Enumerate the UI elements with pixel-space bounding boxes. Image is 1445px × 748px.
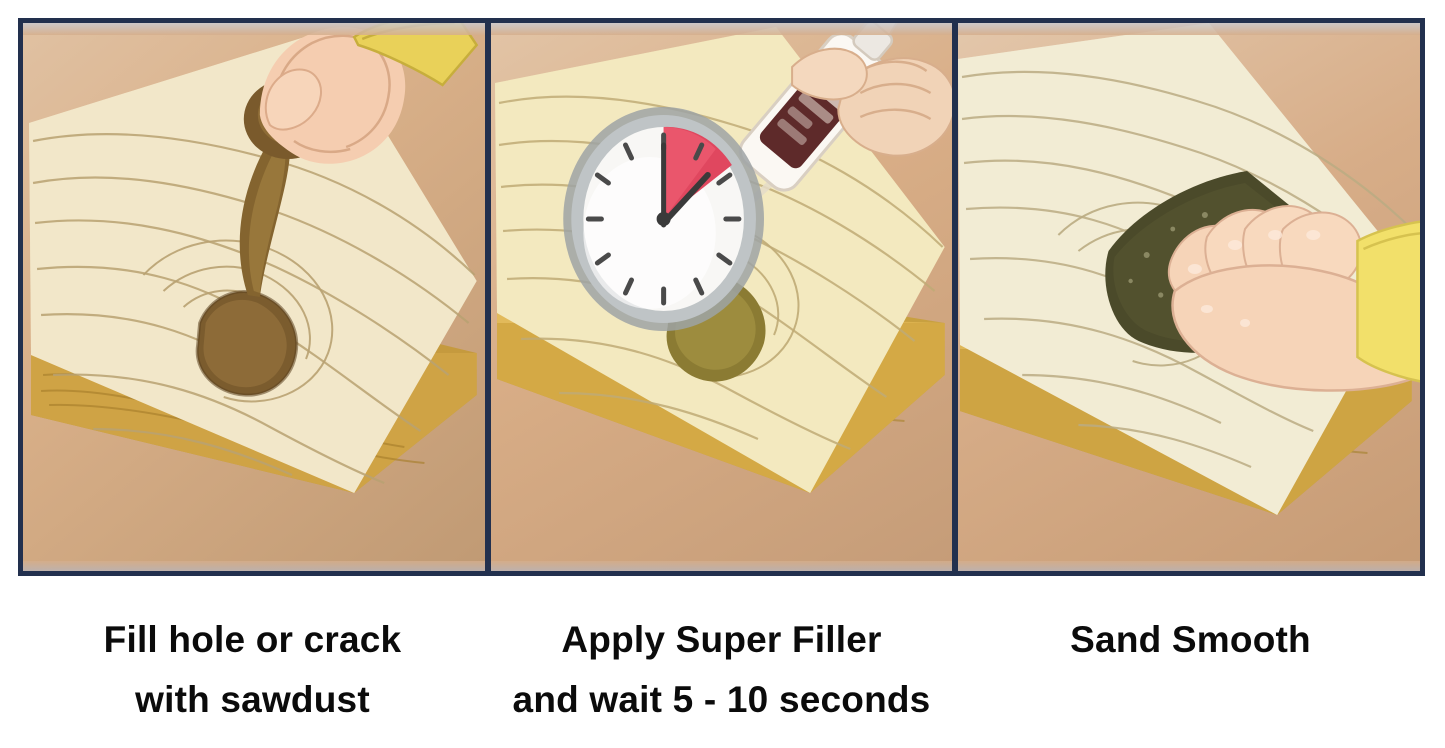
panel-step-1 (23, 23, 488, 571)
caption-step-1: Fill hole or crack with sawdust (18, 596, 487, 736)
panel-1-board (23, 23, 485, 571)
instruction-strip-figure (18, 18, 1425, 576)
caption-row: Fill hole or crack with sawdust Apply Su… (18, 596, 1425, 736)
panel-step-2 (488, 23, 956, 571)
caption-step-2-line-2: and wait 5 - 10 seconds (487, 670, 956, 730)
panel-3-board (958, 23, 1420, 571)
caption-step-2: Apply Super Filler and wait 5 - 10 secon… (487, 596, 956, 736)
caption-step-2-line-1: Apply Super Filler (487, 610, 956, 670)
panel-step-3 (955, 23, 1420, 571)
caption-step-1-line-1: Fill hole or crack (18, 610, 487, 670)
panel-2-board (491, 23, 953, 571)
timer-clock (563, 107, 764, 331)
caption-step-3-line-1: Sand Smooth (956, 610, 1425, 670)
caption-step-3: Sand Smooth (956, 596, 1425, 736)
caption-step-1-line-2: with sawdust (18, 670, 487, 730)
